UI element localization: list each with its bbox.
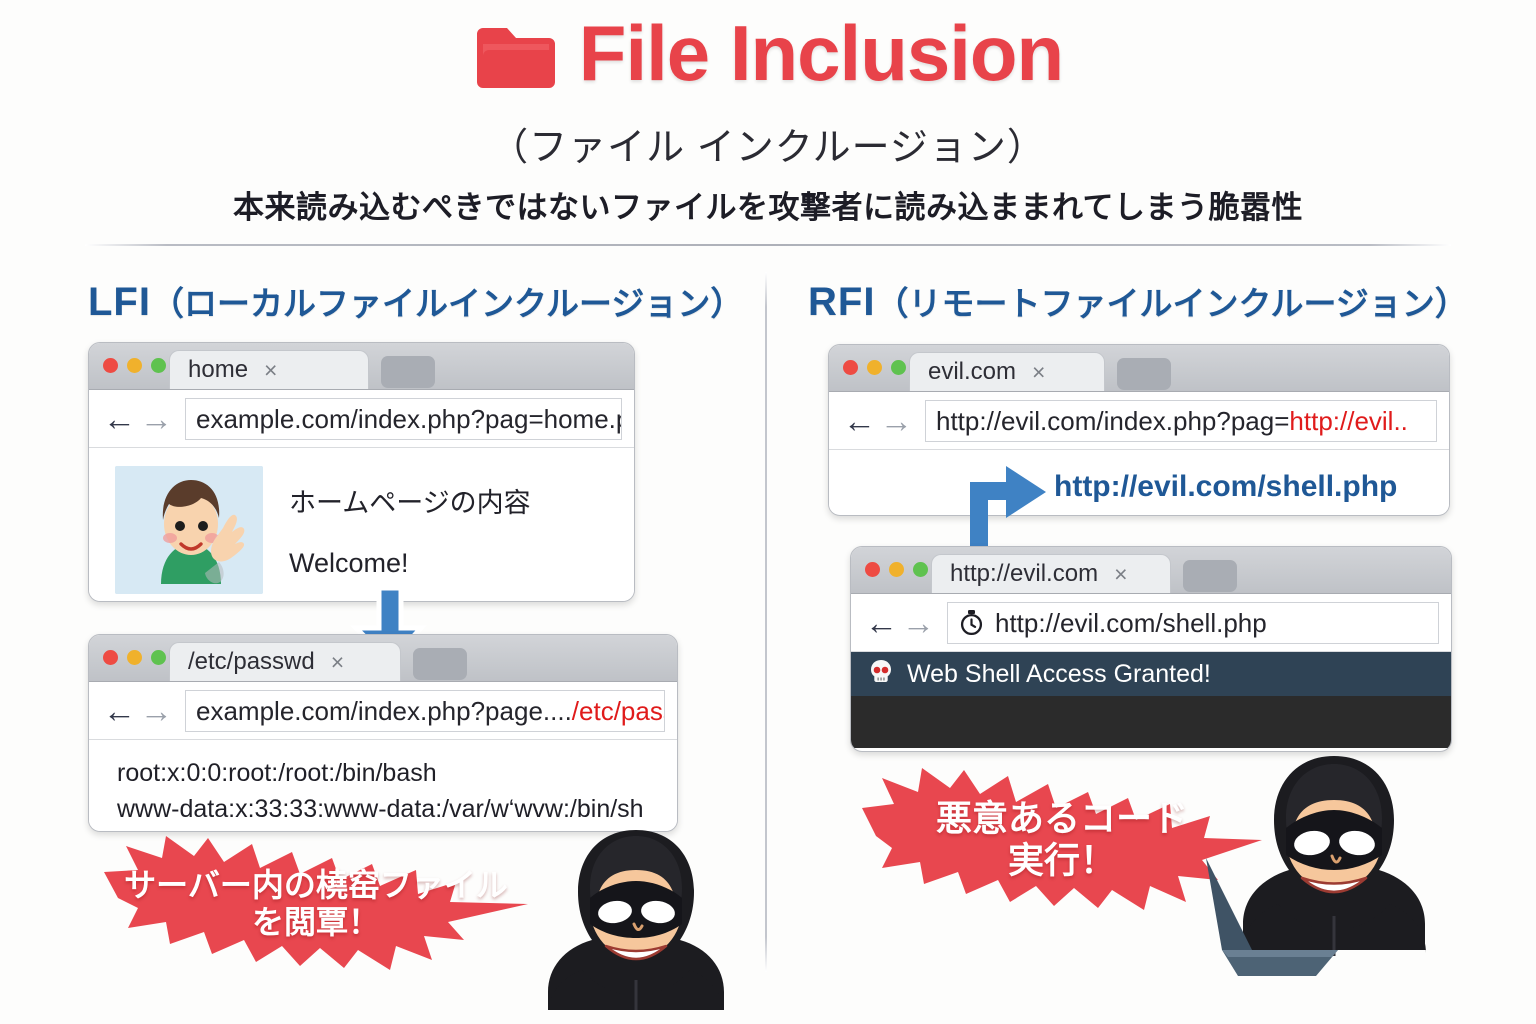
arrow-right-icon[interactable]: → (880, 404, 913, 437)
passwd-line: root:x:0:0:root:/root:/bin/bash (117, 756, 667, 792)
section-heading-rfi: RFI（リモートファイルインクルージョン） (808, 277, 1468, 325)
close-icon[interactable]: × (1114, 563, 1127, 586)
tab-label: /etc/passwd (188, 650, 315, 674)
browser-chrome: http://evil.com × (851, 547, 1451, 594)
tab-label: http://evil.com (950, 562, 1098, 586)
browser-chrome: evil.com × (829, 345, 1449, 392)
address-bar[interactable]: http://evil.com/shell.php (947, 602, 1439, 644)
header-divider (85, 244, 1451, 246)
tab-label: home (188, 358, 248, 382)
stopwatch-icon (958, 609, 985, 636)
page-title-row: File Inclusion (0, 14, 1536, 92)
hacker-character (538, 820, 734, 1010)
lfi-paren: （ローカルファイルインクルージョン） (151, 285, 743, 322)
address-bar[interactable]: http://evil.com/index.php?pag=http://evi… (925, 400, 1437, 442)
column-divider (765, 272, 767, 972)
web-shell-terminal: Web Shell Access Granted! (851, 652, 1451, 748)
lfi-browser-home[interactable]: home × ← → example.com/index.php?pag=hom… (88, 342, 635, 602)
url-text: http://evil.com/shell.php (995, 610, 1267, 636)
window-controls[interactable] (103, 358, 166, 373)
arrow-left-icon[interactable]: ← (103, 402, 136, 435)
infographic-canvas: File Inclusion （ファイル インクルージョン） 本来読み込むぺきで… (0, 0, 1536, 1024)
minimize-window-dot[interactable] (127, 358, 142, 373)
lfi-abbr: LFI (88, 280, 151, 324)
shell-url-label: http://evil.com/shell.php (1054, 470, 1397, 504)
close-window-dot[interactable] (865, 562, 880, 577)
rfi-abbr: RFI (808, 280, 875, 324)
new-tab-placeholder[interactable] (1183, 560, 1237, 592)
page-text-block: ホームページの内容 Welcome! (289, 481, 531, 579)
url-plain-part: http://evil.com/index.php?pag= (936, 406, 1289, 436)
new-tab-placeholder[interactable] (381, 356, 435, 388)
content-welcome: Welcome! (289, 548, 531, 579)
rfi-browser-shell[interactable]: http://evil.com × ← → http://evil.com/sh… (850, 546, 1452, 752)
address-bar[interactable]: example.com/index.php?pag=home.php (185, 398, 622, 440)
passwd-content: root:x:0:0:root:/root:/bin/bash www-data… (89, 740, 677, 832)
browser-tab[interactable]: evil.com × (909, 352, 1105, 391)
window-controls[interactable] (865, 562, 928, 577)
waving-boy-illustration (115, 466, 263, 594)
hacker-character-with-laptop (1200, 744, 1450, 996)
url-text: http://evil.com/index.php?pag=http://evi… (936, 408, 1408, 434)
lfi-callout-text: サーバー内の橈窑ファイル を閲覃！ (104, 867, 528, 941)
url-text: example.com/index.php?pag=home.php (196, 406, 622, 432)
arrow-right-icon[interactable]: → (140, 694, 173, 727)
skull-icon (867, 658, 895, 691)
page-title: File Inclusion (579, 14, 1063, 92)
page-content-home: ホームページの内容 Welcome! (89, 448, 634, 602)
lfi-browser-passwd[interactable]: /etc/passwd × ← → example.com/index.php?… (88, 634, 678, 832)
maximize-window-dot[interactable] (913, 562, 928, 577)
content-heading: ホームページの内容 (289, 481, 531, 520)
url-payload-part: /etc/passwd (572, 696, 665, 726)
browser-toolbar: ← → http://evil.com/index.php?pag=http:/… (829, 392, 1449, 450)
minimize-window-dot[interactable] (889, 562, 904, 577)
lfi-callout-burst: サーバー内の橈窑ファイル を閲覃！ (104, 836, 528, 972)
window-controls[interactable] (103, 650, 166, 665)
browser-toolbar: ← → http://evil.com/shell.php (851, 594, 1451, 652)
arrow-right-icon[interactable]: → (140, 402, 173, 435)
maximize-window-dot[interactable] (151, 650, 166, 665)
url-text: example.com/index.php?page..../etc/passw… (196, 698, 665, 724)
browser-tab[interactable]: home × (169, 350, 369, 389)
terminal-text: Web Shell Access Granted! (907, 662, 1211, 687)
minimize-window-dot[interactable] (867, 360, 882, 375)
close-window-dot[interactable] (843, 360, 858, 375)
address-bar[interactable]: example.com/index.php?page..../etc/passw… (185, 690, 665, 732)
tab-label: evil.com (928, 360, 1016, 384)
browser-toolbar: ← → example.com/index.php?pag=home.php (89, 390, 634, 448)
maximize-window-dot[interactable] (151, 358, 166, 373)
browser-chrome: home × (89, 343, 634, 390)
browser-toolbar: ← → example.com/index.php?page..../etc/p… (89, 682, 677, 740)
window-controls[interactable] (843, 360, 906, 375)
page-subtitle: （ファイル インクルージョン） (0, 116, 1536, 171)
browser-chrome: /etc/passwd × (89, 635, 677, 682)
folder-icon (473, 22, 559, 90)
browser-tab[interactable]: http://evil.com × (931, 554, 1171, 593)
minimize-window-dot[interactable] (127, 650, 142, 665)
arrow-left-icon[interactable]: ← (103, 694, 136, 727)
new-tab-placeholder[interactable] (413, 648, 467, 680)
close-icon[interactable]: × (1032, 361, 1045, 384)
new-tab-placeholder[interactable] (1117, 358, 1171, 390)
browser-tab[interactable]: /etc/passwd × (169, 642, 401, 681)
close-icon[interactable]: × (331, 651, 344, 674)
arrow-left-icon[interactable]: ← (843, 404, 876, 437)
rfi-paren: （リモートファイルインクルージョン） (875, 285, 1467, 322)
url-payload-part: http://evil.. (1289, 406, 1408, 436)
close-icon[interactable]: × (264, 359, 277, 382)
url-plain-part: example.com/index.php?page.... (196, 696, 572, 726)
section-heading-lfi: LFI（ローカルファイルインクルージョン） (88, 277, 743, 325)
close-window-dot[interactable] (103, 650, 118, 665)
arrow-right-icon[interactable]: → (902, 606, 935, 639)
close-window-dot[interactable] (103, 358, 118, 373)
maximize-window-dot[interactable] (891, 360, 906, 375)
page-lead-text: 本来読み込むぺきではないファイルを攻撃者に読み込ままれてしまう脆嚣性 (0, 182, 1536, 227)
terminal-body[interactable] (851, 696, 1451, 748)
arrow-left-icon[interactable]: ← (865, 606, 898, 639)
terminal-banner: Web Shell Access Granted! (851, 652, 1451, 696)
